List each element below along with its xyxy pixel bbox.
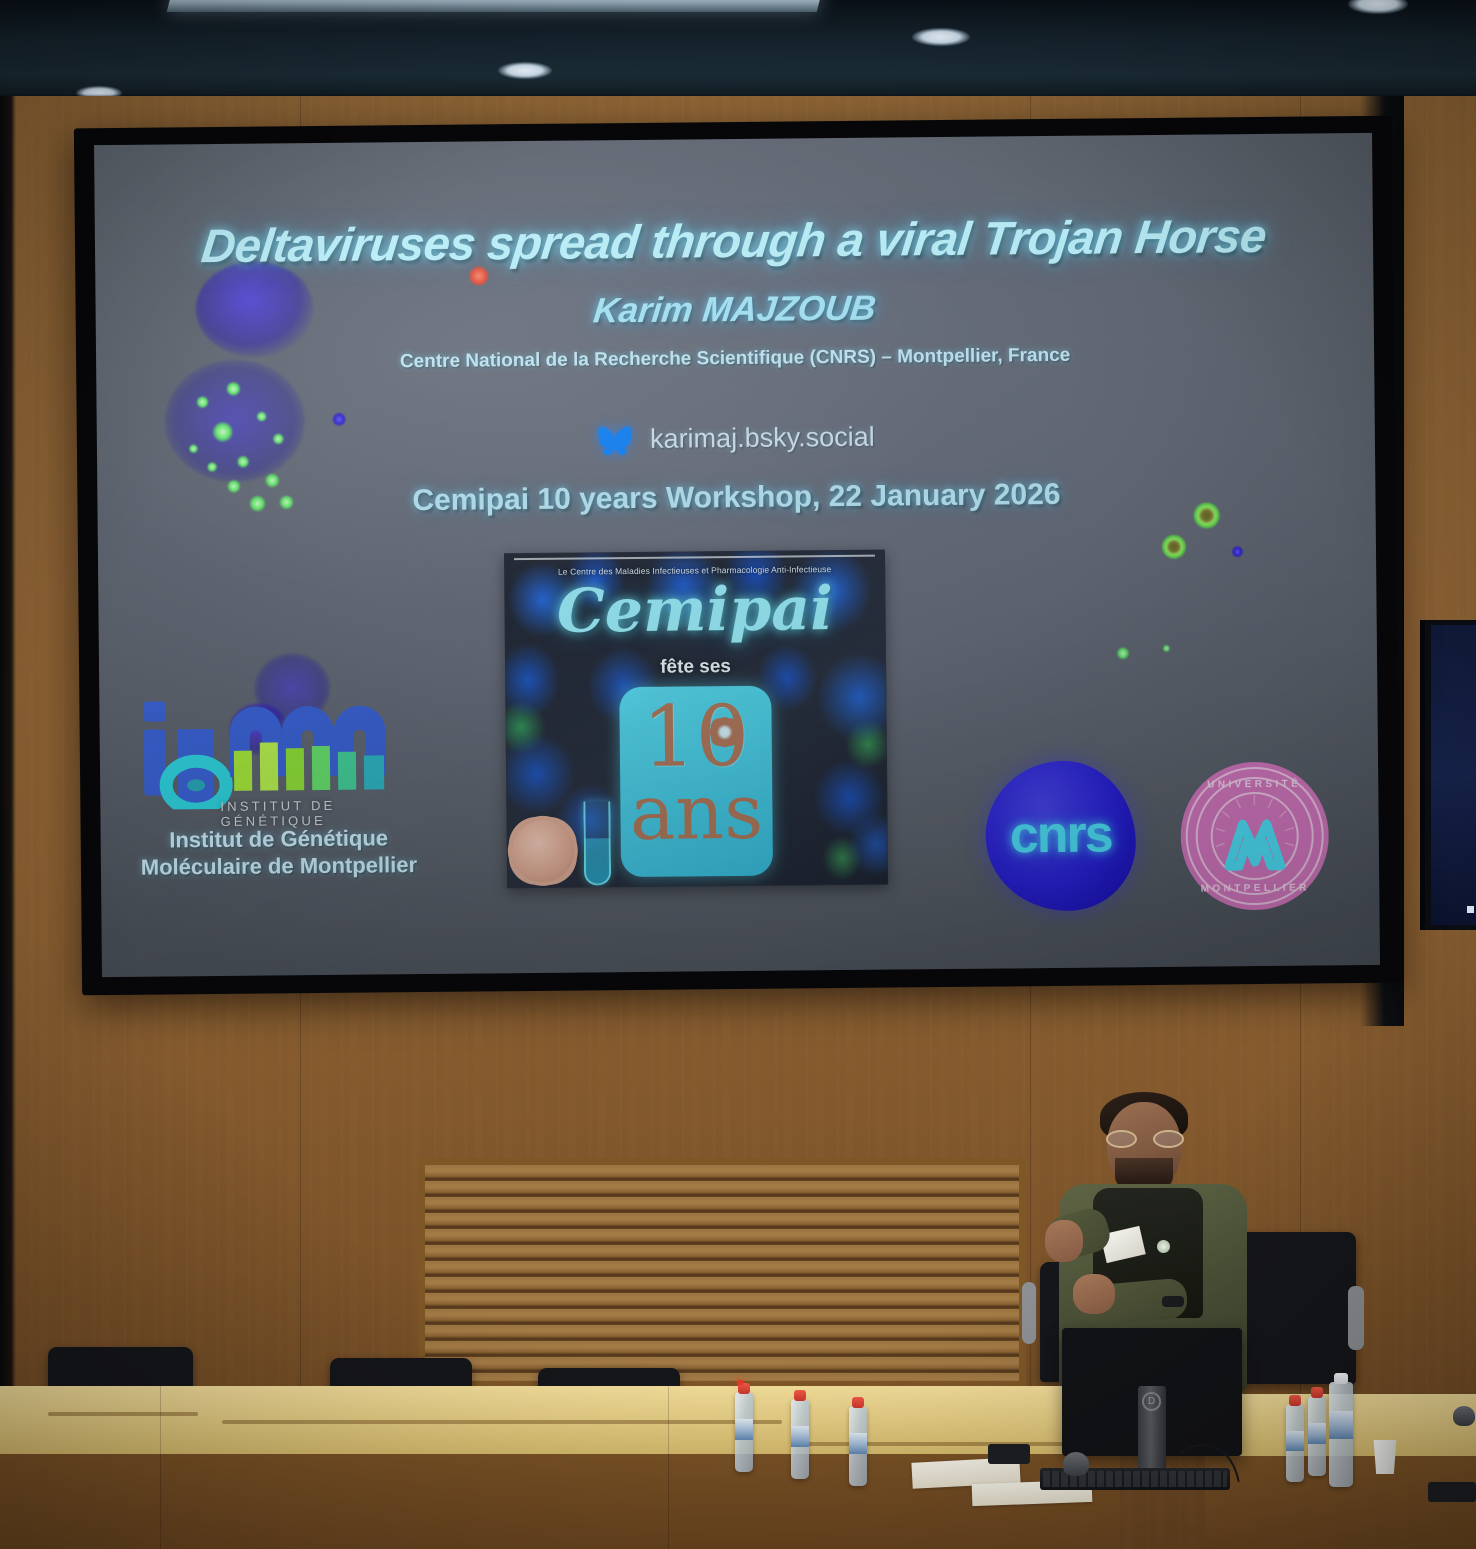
slide-event: Cemipai 10 years Workshop, 22 January 20… <box>97 475 1375 521</box>
bottle-cap <box>1289 1395 1301 1406</box>
poster-subtitle: fête ses <box>505 655 886 681</box>
cnrs-logo: cnrs <box>985 760 1136 911</box>
water-bottle <box>1308 1396 1326 1476</box>
ceiling <box>0 0 1476 100</box>
virus-particle-icon <box>712 719 738 745</box>
projection-screen-frame: Deltaviruses spread through a viral Troj… <box>74 116 1400 996</box>
microscopy-nucleus <box>164 359 305 482</box>
bottle-cap <box>852 1397 864 1408</box>
bottle-label <box>1308 1423 1326 1444</box>
bottle-label <box>791 1426 809 1447</box>
desk-groove <box>222 1420 782 1424</box>
um-text-bottom: MONTPELLIER <box>1181 882 1329 894</box>
wooden-louvre-vent <box>418 1158 1026 1388</box>
bluesky-butterfly-icon <box>597 424 633 454</box>
fluorescent-punctum <box>1232 546 1243 557</box>
poster-brand: Cemipai <box>504 574 886 648</box>
fluorescent-punctum <box>333 413 346 426</box>
side-display-panel <box>1420 620 1476 930</box>
bottle-cap <box>1311 1387 1323 1398</box>
paper-cup <box>1372 1440 1398 1474</box>
chair-armrest <box>1022 1282 1036 1344</box>
lapel-pin <box>1157 1240 1170 1253</box>
bottle-label <box>849 1433 867 1454</box>
glasses-icon <box>1106 1130 1184 1148</box>
water-bottle-large <box>1329 1382 1353 1487</box>
fluorescent-punctum <box>1117 647 1129 659</box>
louvre-slats <box>425 1165 1019 1381</box>
fluorescent-punctum <box>226 382 240 396</box>
speaker-left-hand <box>1045 1220 1083 1262</box>
side-display-screen <box>1431 625 1476 925</box>
desk-seam <box>668 1386 669 1549</box>
igmm-logo: INSTITUT DE GÉNÉTIQUE Institut de Généti… <box>127 697 429 900</box>
water-bottle <box>849 1406 867 1486</box>
microphone-base[interactable] <box>1063 1452 1089 1476</box>
louvre-status-led <box>737 1380 743 1385</box>
bottle-label <box>1329 1411 1353 1438</box>
ten-years-badge: 10 ans <box>619 686 773 877</box>
igmm-caption-line1: Institut de Génétique <box>129 825 429 855</box>
ceiling-slot-light <box>167 0 823 12</box>
control-box[interactable] <box>1428 1482 1476 1502</box>
bottle-cap <box>794 1390 806 1401</box>
ceiling-downlight <box>912 28 970 46</box>
fluorescent-punctum <box>1163 645 1170 652</box>
speaker-right-hand <box>1073 1274 1115 1314</box>
remote-clicker[interactable] <box>988 1444 1030 1464</box>
desk-groove <box>48 1412 198 1416</box>
um-text-top: UNIVERSITÉ <box>1180 778 1328 790</box>
desk-groove <box>800 1442 1100 1446</box>
fluorescent-punctum <box>196 396 208 408</box>
slide-title: Deltaviruses spread through a viral Troj… <box>94 207 1376 274</box>
fluorescent-cell <box>1162 535 1186 559</box>
glasses-lens <box>1106 1130 1137 1148</box>
lecture-hall-scene: Deltaviruses spread through a viral Troj… <box>0 0 1476 1549</box>
fluorescent-punctum <box>207 462 217 472</box>
desk-seam <box>160 1386 161 1549</box>
slide-social-handle: karimaj.bsky.social <box>650 422 875 455</box>
igmm-wordmark-icon <box>137 697 408 810</box>
water-bottle <box>791 1399 809 1479</box>
ceiling-downlight <box>1348 0 1408 14</box>
wristwatch <box>1162 1296 1184 1307</box>
bottle-label <box>735 1419 753 1440</box>
dell-logo-icon: D <box>1142 1392 1161 1411</box>
igmm-caption: Institut de Génétique Moléculaire de Mon… <box>129 825 430 882</box>
cnrs-wordmark: cnrs <box>985 804 1136 865</box>
water-bottle <box>735 1392 753 1472</box>
fluorescent-punctum <box>257 412 267 422</box>
test-tube-icon <box>583 801 611 885</box>
bottle-cap <box>1334 1373 1348 1384</box>
virus-particle-icon <box>512 820 575 883</box>
cemipai-poster: Le Centre des Maladies Infectieuses et P… <box>504 550 888 889</box>
bottle-label <box>1286 1431 1304 1451</box>
igmm-subtitle: INSTITUT DE GÉNÉTIQUE <box>220 797 428 829</box>
projected-slide: Deltaviruses spread through a viral Troj… <box>94 133 1380 977</box>
microphone-base[interactable] <box>1453 1406 1475 1426</box>
igmm-caption-line2: Moléculaire de Montpellier <box>129 852 429 882</box>
left-wall-shadow <box>0 96 16 1549</box>
chair-armrest <box>1348 1286 1364 1350</box>
badge-word: ans <box>620 774 773 851</box>
ceiling-downlight <box>498 62 552 79</box>
glasses-lens <box>1153 1130 1184 1148</box>
universite-montpellier-logo: UNIVERSITÉ MONTPELLIER <box>1180 761 1329 910</box>
water-bottle <box>1286 1404 1304 1482</box>
